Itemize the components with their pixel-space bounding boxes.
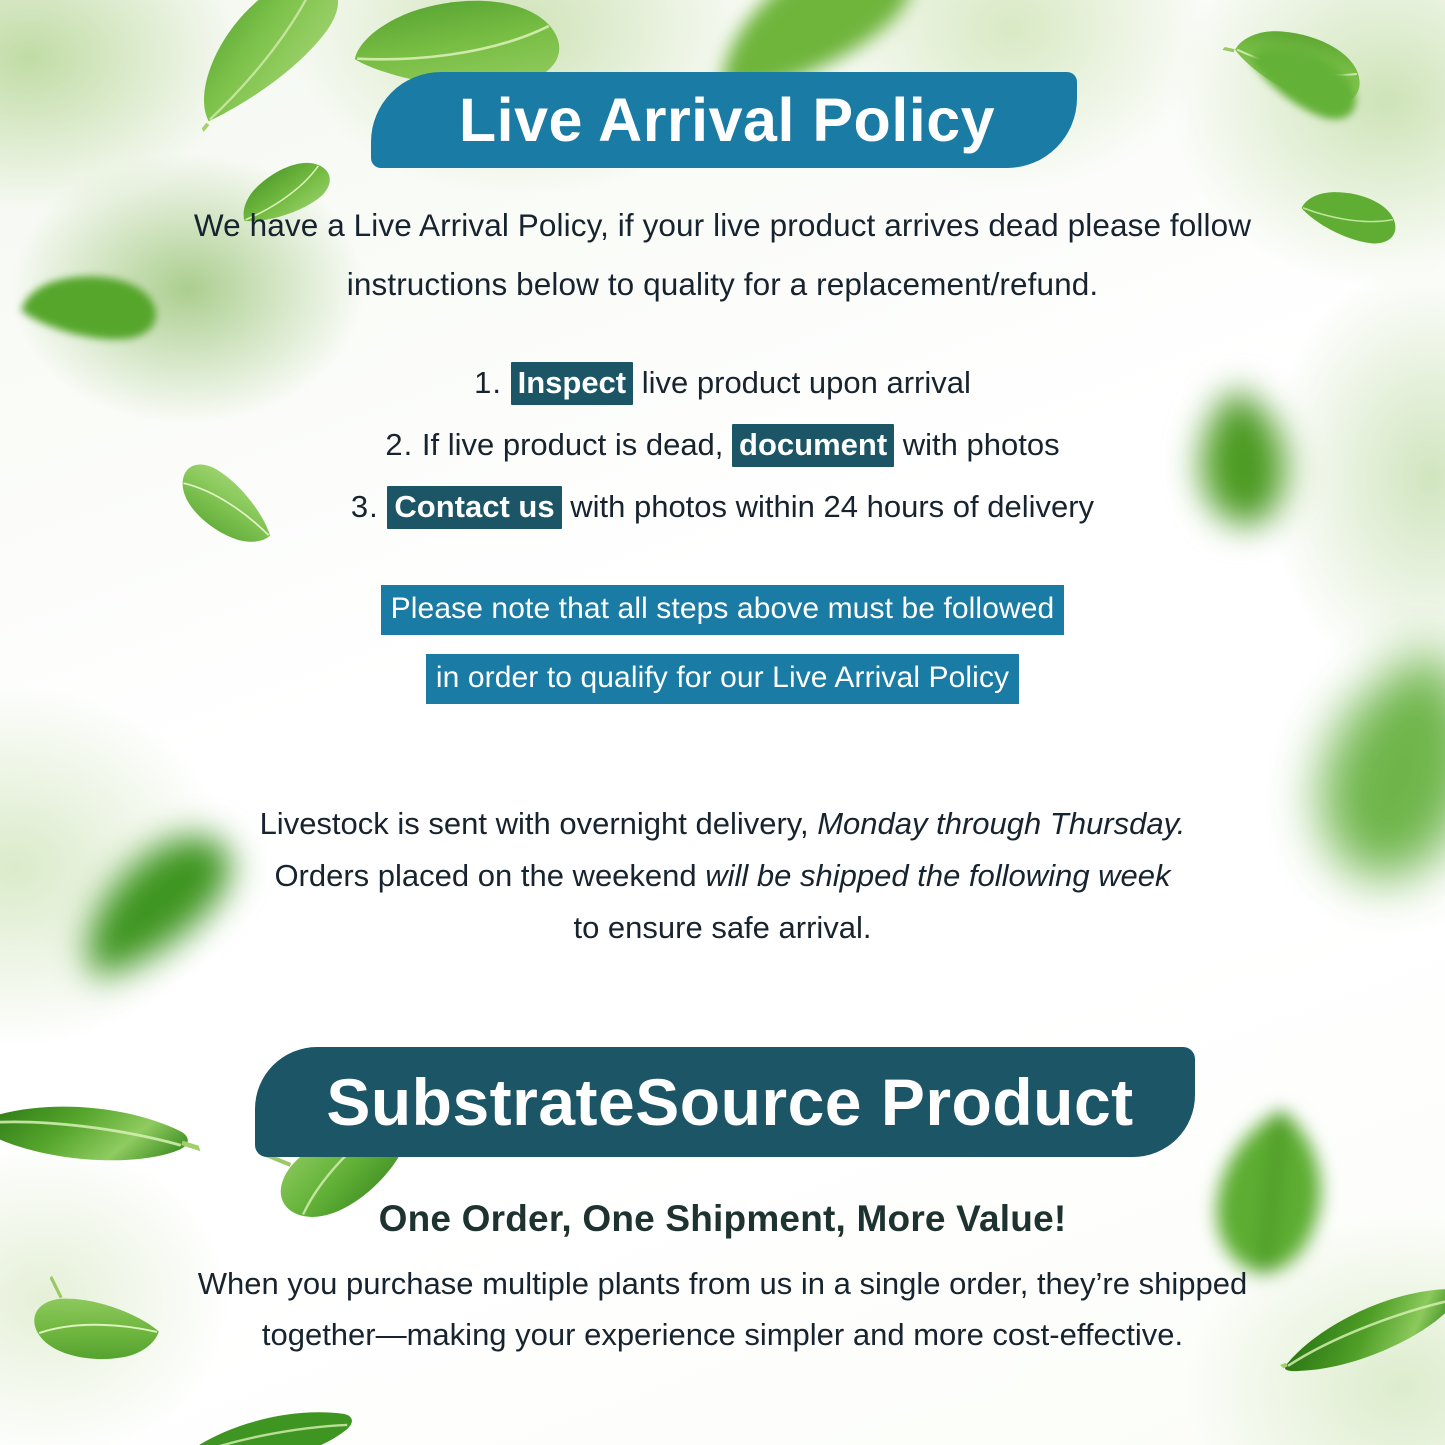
step-number: 2. xyxy=(385,427,413,462)
steps-list: 1. Inspect live product upon arrival 2. … xyxy=(170,352,1275,538)
step-highlight-document: document xyxy=(732,424,894,467)
intro-line-1: We have a Live Arrival Policy, if your l… xyxy=(150,196,1295,255)
note-callout: Please note that all steps above must be… xyxy=(170,585,1275,704)
shipping-line-3: to ensure safe arrival. xyxy=(170,902,1275,954)
value-proposition-body: When you purchase multiple plants from u… xyxy=(150,1258,1295,1360)
value-body-line-1: When you purchase multiple plants from u… xyxy=(150,1258,1295,1309)
step-highlight-contact-us[interactable]: Contact us xyxy=(387,486,561,529)
policy-page: Live Arrival Policy We have a Live Arriv… xyxy=(0,0,1445,1445)
list-item: 1. Inspect live product upon arrival xyxy=(170,352,1275,414)
note-spacer xyxy=(170,635,1275,654)
step-highlight-inspect: Inspect xyxy=(511,362,634,405)
step-post-text: live product upon arrival xyxy=(642,365,971,400)
shipping-line-2-italic: will be shipped the following week xyxy=(705,858,1170,893)
shipping-paragraph: Livestock is sent with overnight deliver… xyxy=(170,798,1275,954)
list-item: 3. Contact us with photos within 24 hour… xyxy=(170,476,1275,538)
intro-line-2: instructions below to quality for a repl… xyxy=(150,255,1295,314)
product-section-title: SubstrateSource Product xyxy=(255,1047,1195,1157)
shipping-line-1-italic: Monday through Thursday. xyxy=(817,806,1185,841)
shipping-line-2-plain: Orders placed on the weekend xyxy=(274,858,705,893)
step-number: 1. xyxy=(474,365,502,400)
shipping-line-1-plain: Livestock is sent with overnight deliver… xyxy=(260,806,818,841)
note-line-2: in order to qualify for our Live Arrival… xyxy=(426,654,1019,704)
step-post-text: with photos xyxy=(903,427,1060,462)
value-proposition-heading: One Order, One Shipment, More Value! xyxy=(170,1195,1275,1243)
step-pre-text: If live product is dead, xyxy=(422,427,732,462)
value-body-line-2: together—making your experience simpler … xyxy=(150,1309,1295,1360)
intro-paragraph: We have a Live Arrival Policy, if your l… xyxy=(150,196,1295,314)
note-line-1: Please note that all steps above must be… xyxy=(381,585,1065,635)
step-number: 3. xyxy=(351,489,379,524)
shipping-line-1: Livestock is sent with overnight deliver… xyxy=(170,798,1275,850)
shipping-line-2: Orders placed on the weekend will be shi… xyxy=(170,850,1275,902)
list-item: 2. If live product is dead, document wit… xyxy=(170,414,1275,476)
step-post-text: with photos within 24 hours of delivery xyxy=(570,489,1094,524)
page-title: Live Arrival Policy xyxy=(371,72,1077,168)
